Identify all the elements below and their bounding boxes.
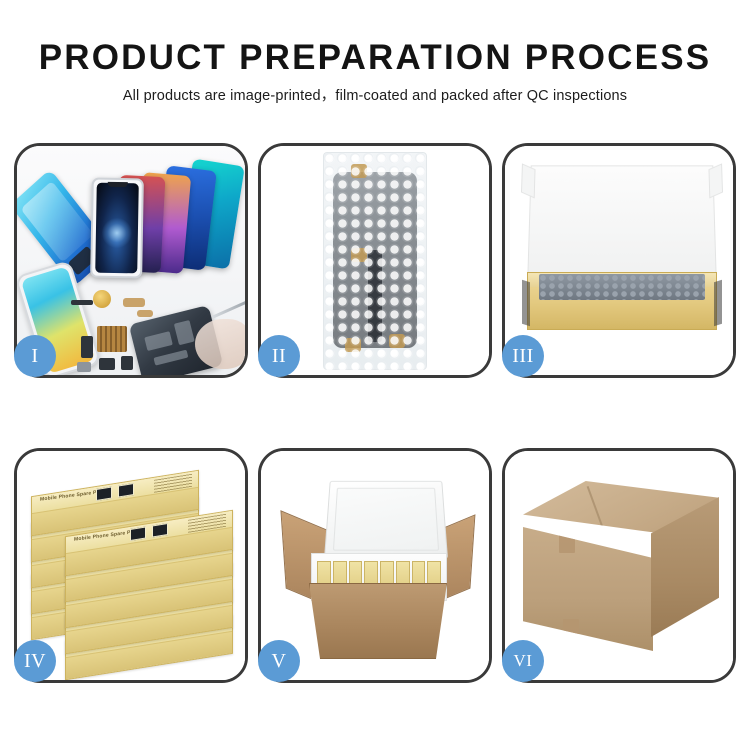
carton-top-seam — [586, 486, 603, 527]
carton-tape-lower — [563, 619, 579, 639]
lightning-glow-icon — [102, 218, 133, 249]
step-badge-3: III — [502, 335, 544, 377]
page-title: PRODUCT PREPARATION PROCESS — [0, 38, 750, 78]
sealed-carton-group — [523, 481, 719, 653]
process-step-panel-1: I — [14, 143, 248, 378]
lid-fold-right — [708, 163, 723, 198]
step-badge-6: VI — [502, 640, 544, 682]
connector-icon — [137, 310, 153, 317]
camera-module-icon — [99, 358, 115, 370]
process-step-panel-5: V — [258, 448, 492, 683]
process-step-panel-2: II — [258, 143, 492, 378]
internal-chip-icon — [144, 331, 173, 351]
foam-insert-icon — [539, 274, 705, 300]
box-edge-right — [714, 280, 722, 327]
battery-connector-icon — [81, 336, 93, 358]
chip-grid-icon — [97, 326, 127, 352]
carton-left-face — [523, 527, 653, 651]
process-step-grid: I II — [14, 143, 736, 683]
process-step-panel-3: III — [502, 143, 736, 378]
box-lid-icon — [527, 165, 717, 280]
bubble-bag-icon — [323, 152, 427, 370]
speaker-part-icon — [93, 290, 111, 308]
step-badge-5: V — [258, 640, 300, 682]
internal-strip-icon — [153, 350, 188, 366]
flex-cable-icon — [123, 298, 145, 307]
box-edge-left — [522, 280, 530, 327]
bubble-texture — [323, 152, 427, 370]
page-subtitle: All products are image-printed，film-coat… — [0, 87, 750, 105]
photo-packed-carton — [261, 451, 489, 680]
header: PRODUCT PREPARATION PROCESS All products… — [0, 38, 750, 105]
foam-lid-inset — [333, 488, 439, 551]
step-badge-1: I — [14, 335, 56, 377]
phone-front-glass-icon — [90, 178, 144, 279]
foam-lid-icon — [324, 481, 448, 559]
step-badge-4: IV — [14, 640, 56, 682]
phone-notch-icon — [108, 182, 128, 187]
box-window-front-b — [152, 523, 168, 538]
sim-tray-icon — [77, 362, 91, 372]
box-stack-group: Mobile Phone Spare Parts Mobile Phone Sp… — [31, 469, 237, 669]
process-step-panel-6: VI — [502, 448, 736, 683]
carton-body — [309, 583, 447, 659]
flex-strip-icon — [71, 300, 93, 305]
product-preparation-infographic: PRODUCT PREPARATION PROCESS All products… — [0, 0, 750, 750]
photo-spare-parts — [17, 146, 245, 375]
button-part-icon — [121, 356, 133, 370]
phone-fan-group — [89, 162, 239, 280]
hand-icon — [195, 319, 245, 369]
box-window-back-a — [96, 486, 112, 501]
photo-bubble-wrapped-part — [261, 146, 489, 375]
step-badge-2: II — [258, 335, 300, 377]
phone-screen-wallpaper — [95, 183, 139, 274]
process-step-panel-4: Mobile Phone Spare Parts Mobile Phone Sp… — [14, 448, 248, 683]
lid-fold-left — [521, 163, 536, 198]
internal-board-icon — [174, 320, 195, 345]
photo-sealed-carton — [505, 451, 733, 680]
box-window-back-b — [118, 483, 134, 498]
carton-tape-upper — [559, 533, 575, 553]
photo-stacked-boxes: Mobile Phone Spare Parts Mobile Phone Sp… — [17, 451, 245, 680]
box-window-front-a — [130, 526, 146, 541]
photo-open-inner-box — [505, 146, 733, 375]
open-carton-group — [287, 471, 469, 667]
